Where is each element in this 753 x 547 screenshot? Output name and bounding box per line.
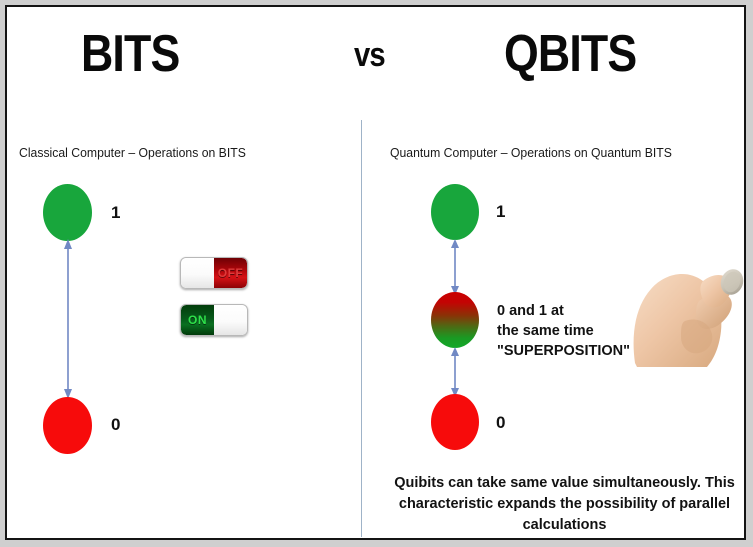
left-state-label-zero: 0 [111, 415, 120, 435]
left-double-headed-arrow [59, 239, 77, 399]
right-panel-caption: Quibits can take same value simultaneous… [392, 473, 737, 536]
toggle-switch-on[interactable]: ON [180, 304, 248, 336]
superposition-note-line-3: "SUPERPOSITION" [497, 341, 630, 361]
right-state-label-one: 1 [496, 202, 505, 222]
caption-line-2: characteristic expands the possibility o… [392, 494, 737, 515]
toggle-on-label: ON [181, 305, 214, 335]
hand-flipping-coin-photo [629, 255, 746, 367]
superposition-circle [431, 292, 479, 348]
right-lower-double-headed-arrow [446, 347, 464, 397]
superposition-note-line-2: the same time [497, 321, 630, 341]
caption-line-3: calculations [392, 515, 737, 536]
left-green-state-circle [43, 184, 92, 241]
caption-line-1: Quibits can take same value simultaneous… [392, 473, 737, 494]
left-state-label-one: 1 [111, 203, 120, 223]
toggle-switch-off[interactable]: OFF [180, 257, 248, 289]
right-panel-subtitle: Quantum Computer – Operations on Quantum… [390, 145, 672, 160]
slide-canvas: BITS vs QBITS Classical Computer – Opera… [5, 5, 746, 540]
right-red-state-circle [431, 394, 479, 450]
slide-header: BITS vs QBITS [7, 7, 744, 107]
title-bits: BITS [81, 24, 179, 84]
right-state-label-zero: 0 [496, 413, 505, 433]
title-vs-separator: vs [354, 36, 385, 75]
toggle-off-knob [181, 258, 214, 288]
panel-divider [361, 120, 362, 537]
right-upper-double-headed-arrow [446, 239, 464, 295]
toggle-on-knob [214, 305, 247, 335]
right-green-state-circle [431, 184, 479, 240]
left-panel-subtitle: Classical Computer – Operations on BITS [19, 145, 246, 160]
superposition-note: 0 and 1 at the same time "SUPERPOSITION" [497, 301, 630, 361]
left-red-state-circle [43, 397, 92, 454]
toggle-off-label: OFF [214, 258, 247, 288]
superposition-note-line-1: 0 and 1 at [497, 301, 630, 321]
title-qbits: QBITS [504, 24, 636, 84]
